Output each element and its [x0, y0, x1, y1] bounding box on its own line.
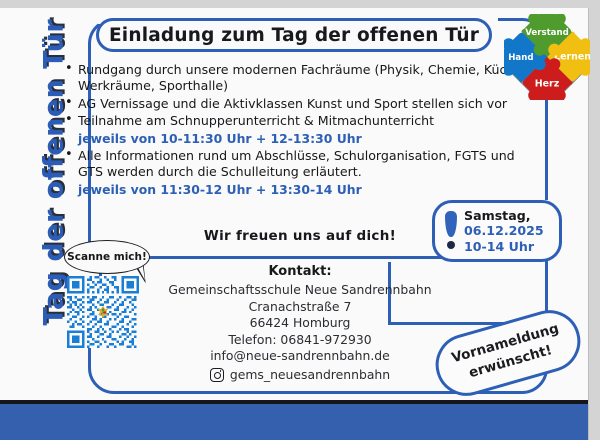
contact-block: Kontakt: Gemeinschaftsschule Neue Sandre…: [150, 264, 450, 383]
date-badge: Samstag, 06.12.2025 10-14 Uhr: [432, 200, 562, 262]
bullet-text: AG Vernissage und die Aktivklassen Kunst…: [78, 96, 507, 111]
scan-me-text: Scanne mich!: [67, 251, 147, 263]
svg-text:Herz: Herz: [535, 78, 560, 89]
scan-me-bubble: Scanne mich!: [64, 240, 150, 274]
qr-code-icon[interactable]: [67, 276, 139, 348]
svg-text:Lernen: Lernen: [554, 52, 590, 63]
svg-text:Hand: Hand: [508, 53, 533, 63]
contact-heading: Kontakt:: [150, 264, 450, 279]
bullet-time: jeweils von 11:30-12 Uhr + 13:30-14 Uhr: [78, 182, 532, 198]
list-item: Alle Informationen rund um Abschlüsse, S…: [78, 148, 532, 198]
page-title: Einladung zum Tag der offenen Tür: [96, 18, 492, 52]
school-puzzle-logo: Lernen Herz Verstand Ha: [504, 14, 590, 100]
bullet-text: Alle Informationen rund um Abschlüsse, S…: [78, 148, 515, 179]
slogan-text: Wir freuen uns auf dich!: [150, 228, 450, 244]
list-item: Teilnahme am Schnupperunterricht & Mitma…: [78, 113, 532, 147]
page-title-text: Einladung zum Tag der offenen Tür: [109, 25, 479, 46]
list-item: AG Vernissage und die Aktivklassen Kunst…: [78, 96, 532, 112]
instagram-icon: [210, 368, 224, 382]
info-bullet-list: Rundgang durch unsere modernen Fachräume…: [62, 62, 532, 199]
date-time: 10-14 Uhr: [464, 239, 544, 255]
contact-instagram-handle: gems_neuesandrennbahn: [230, 367, 390, 384]
bullet-time: jeweils von 10-11:30 Uhr + 12-13:30 Uhr: [78, 131, 532, 147]
exclamation-mark-icon: [443, 211, 459, 251]
date-value: 06.12.2025: [464, 223, 544, 239]
bullet-text: Teilnahme am Schnupperunterricht & Mitma…: [78, 113, 434, 128]
list-item: Rundgang durch unsere modernen Fachräume…: [78, 62, 532, 95]
contact-school: Gemeinschaftsschule Neue Sandrennbahn: [150, 282, 450, 299]
svg-text:Verstand: Verstand: [525, 28, 569, 38]
qr-center-logo: [97, 306, 109, 318]
bullet-text: Rundgang durch unsere modernen Fachräume…: [78, 62, 526, 93]
contact-email: info@neue-sandrennbahn.de: [150, 348, 450, 365]
contact-city: 66424 Homburg: [150, 315, 450, 332]
date-weekday: Samstag,: [464, 208, 544, 224]
contact-phone: Telefon: 06841-972930: [150, 332, 450, 349]
contact-street: Cranachstraße 7: [150, 299, 450, 316]
bottom-blue-band: [0, 404, 589, 440]
poster-page: Tag der offenen Tür Einladung zum Tag de…: [0, 0, 600, 440]
contact-instagram-row[interactable]: gems_neuesandrennbahn: [150, 367, 450, 384]
